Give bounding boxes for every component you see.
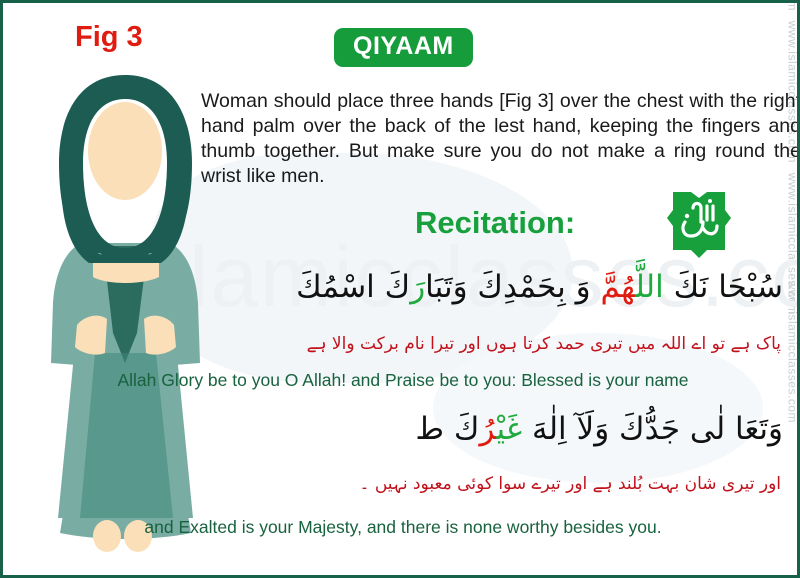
woman-qiyaam-illustration [33, 63, 218, 553]
arabic-segment: هُمَّ [601, 269, 636, 305]
arabic-segment: رُ [479, 411, 496, 447]
arabic-segment: وَ بِحَمْدِكَ وَتَبَا [425, 269, 600, 305]
arabic-segment: كَ ط [415, 411, 479, 447]
recitation-heading: Recitation: [415, 205, 575, 241]
english-translation-one: Allah Glory be to you O Allah! and Prais… [3, 370, 800, 391]
watermark-left-1: www.islamicclasses.com [0, 11, 5, 153]
background-wash-shape-2 [433, 333, 763, 483]
shuaa-brand-logo-icon [663, 188, 735, 262]
urdu-translation-two: اور تیری شان بہت بُلند ہے اور تیرے سوا ک… [359, 473, 781, 494]
watermark-right-1: www.islamicclasses.com [785, 0, 799, 11]
figure-label: Fig 3 [75, 21, 143, 54]
qiyaam-title-badge: QIYAAM [334, 28, 473, 67]
arabic-verse-one: سُبْحَا نَكَ اللَّهُمَّ وَ بِحَمْدِكَ وَ… [183, 269, 783, 305]
arabic-segment: كَ اسْمُكَ [296, 269, 410, 305]
watermark-left-4: www.islamicclasses.com [0, 423, 5, 565]
arabic-segment: رَ [410, 269, 425, 305]
infographic-page: islamicclasses.com www.islamicclasses.co… [0, 0, 800, 578]
watermark-left-2: www.islamicclasses.com [0, 163, 5, 305]
arabic-segment: غَيْ [497, 411, 523, 447]
arabic-segment: سُبْحَا نَكَ [664, 269, 783, 305]
english-translation-two: and Exalted is your Majesty, and there i… [3, 517, 800, 538]
description-paragraph: Woman should place three hands [Fig 3] o… [201, 89, 800, 189]
arabic-verse-two: وَتَعَا لٰى جَدُّكَ وَلَآ اِلٰهَ غَيْرُك… [303, 411, 783, 447]
urdu-translation-one: پاک ہے تو اے اللہ میں تیری حمد کرتا ہوں … [307, 333, 781, 354]
arabic-segment: اللَّ [635, 269, 663, 305]
arabic-segment: وَتَعَا لٰى جَدُّكَ وَلَآ اِلٰهَ [522, 411, 783, 447]
